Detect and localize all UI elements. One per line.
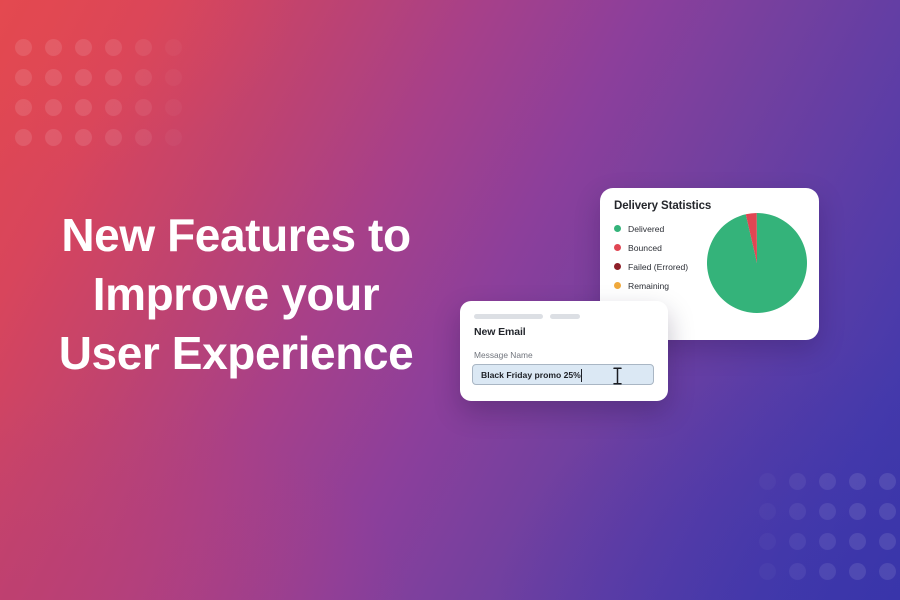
dot-pattern-top-left (8, 32, 188, 152)
legend-label: Delivered (628, 224, 664, 234)
legend-swatch-failed (614, 263, 621, 270)
skeleton-bar-long (474, 314, 543, 319)
new-email-card: New Email Message Name Black Friday prom… (460, 301, 668, 401)
stats-card-title: Delivery Statistics (614, 200, 711, 212)
text-caret (581, 369, 582, 382)
legend-item: Remaining (614, 276, 688, 295)
pie-chart-svg (706, 200, 808, 328)
skeleton-bar-short (550, 314, 580, 319)
legend-swatch-delivered (614, 225, 621, 232)
legend-item: Bounced (614, 238, 688, 257)
legend-swatch-bounced (614, 244, 621, 251)
legend-item: Delivered (614, 219, 688, 238)
headline-line-2: Improve your (46, 265, 426, 324)
promo-banner: New Features to Improve your User Experi… (0, 0, 900, 600)
message-name-label: Message Name (474, 350, 533, 360)
message-name-value: Black Friday promo 25% (481, 370, 581, 380)
legend-label: Bounced (628, 243, 662, 253)
legend-label: Remaining (628, 281, 669, 291)
headline: New Features to Improve your User Experi… (46, 206, 426, 383)
dot-pattern-bottom-right (752, 466, 900, 586)
email-card-title: New Email (474, 326, 526, 338)
legend-swatch-remaining (614, 282, 621, 289)
headline-line-1: New Features to (46, 206, 426, 265)
ibeam-cursor-icon (613, 367, 622, 385)
message-name-input[interactable]: Black Friday promo 25% (472, 364, 654, 385)
headline-line-3: User Experience (46, 324, 426, 383)
legend-item: Failed (Errored) (614, 257, 688, 276)
pie-chart-legend: Delivered Bounced Failed (Errored) Remai… (614, 219, 688, 295)
pie-slice-delivered (707, 213, 807, 313)
legend-label: Failed (Errored) (628, 262, 688, 272)
delivery-pie-chart (706, 200, 808, 328)
